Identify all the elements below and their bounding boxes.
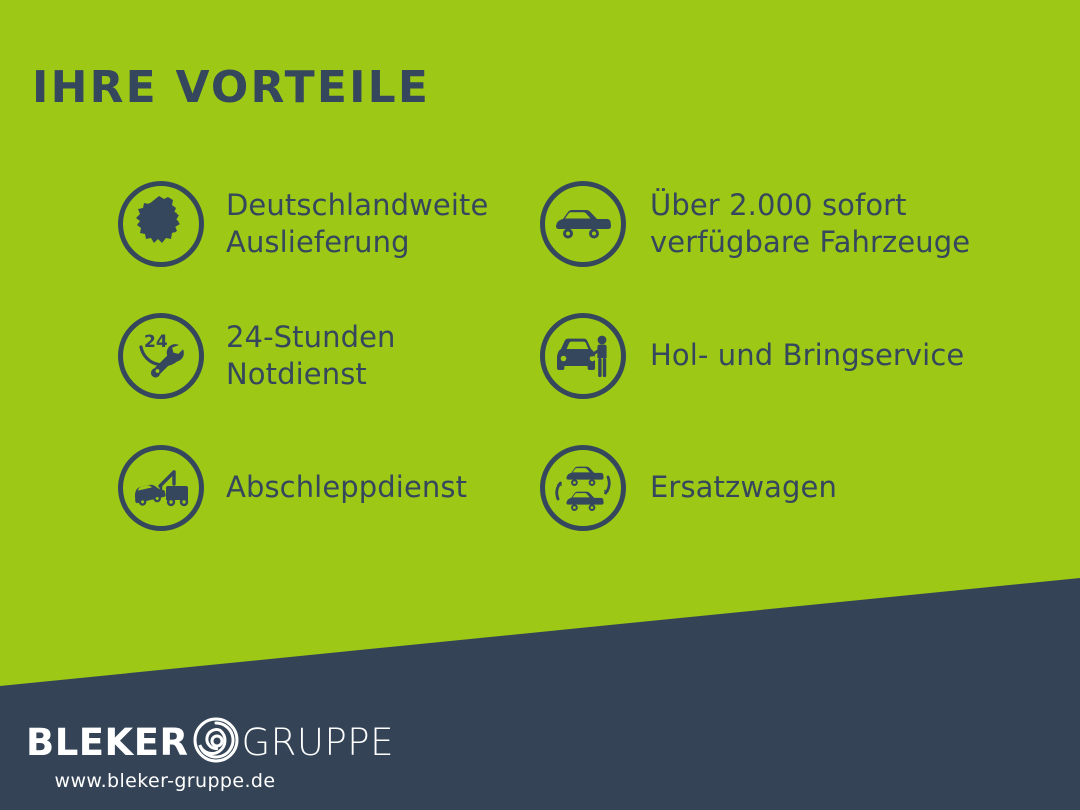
benefit-item-deutschlandweite-auslieferung[interactable]: Deutschlandweite Auslieferung (118, 158, 538, 290)
benefit-label: Abschleppdienst (226, 469, 467, 506)
footer-website-url[interactable]: www.bleker-gruppe.de (26, 770, 304, 792)
benefit-item-abschleppdienst[interactable]: Abschleppdienst (118, 422, 538, 554)
germany-map-icon (118, 181, 204, 267)
two-cars-exchange-icon (540, 445, 626, 531)
benefit-item-hol-und-bringservice[interactable]: Hol- und Bringservice (540, 290, 1010, 422)
footer-logo-block: BLEKER GRUPPE www.bleker-gruppe.de (26, 719, 366, 792)
tow-truck-icon (118, 445, 204, 531)
svg-text:24: 24 (144, 332, 168, 352)
car-with-driver-icon (540, 313, 626, 399)
benefit-item-ersatzwagen[interactable]: Ersatzwagen (540, 422, 1010, 554)
logo-primary-text: BLEKER (26, 724, 189, 761)
benefits-column-right: Über 2.000 sofort verfügbare Fahrzeuge (540, 158, 1010, 554)
benefit-item-24-stunden-notdienst[interactable]: 24 24-Stunden Notdienst (118, 290, 538, 422)
benefits-column-left: Deutschlandweite Auslieferung 24 24-Stun… (118, 158, 538, 554)
benefit-label: Über 2.000 sofort verfügbare Fahrzeuge (650, 187, 970, 261)
benefit-label: Ersatzwagen (650, 469, 837, 506)
page-title: IHRE VORTEILE (32, 62, 430, 113)
benefit-label: Hol- und Bringservice (650, 337, 964, 374)
benefit-item-verfuegbare-fahrzeuge[interactable]: Über 2.000 sofort verfügbare Fahrzeuge (540, 158, 1010, 290)
logo-row: BLEKER GRUPPE (26, 719, 366, 765)
24-hour-wrench-icon: 24 (118, 313, 204, 399)
logo-secondary-text: GRUPPE (242, 724, 394, 761)
benefit-label: 24-Stunden Notdienst (226, 319, 396, 393)
slide-canvas: IHRE VORTEILE Deutschlandweite Ausliefer… (0, 0, 1080, 810)
spiral-swirl-icon (192, 716, 240, 768)
benefit-label: Deutschlandweite Auslieferung (226, 187, 488, 261)
car-side-icon (540, 181, 626, 267)
